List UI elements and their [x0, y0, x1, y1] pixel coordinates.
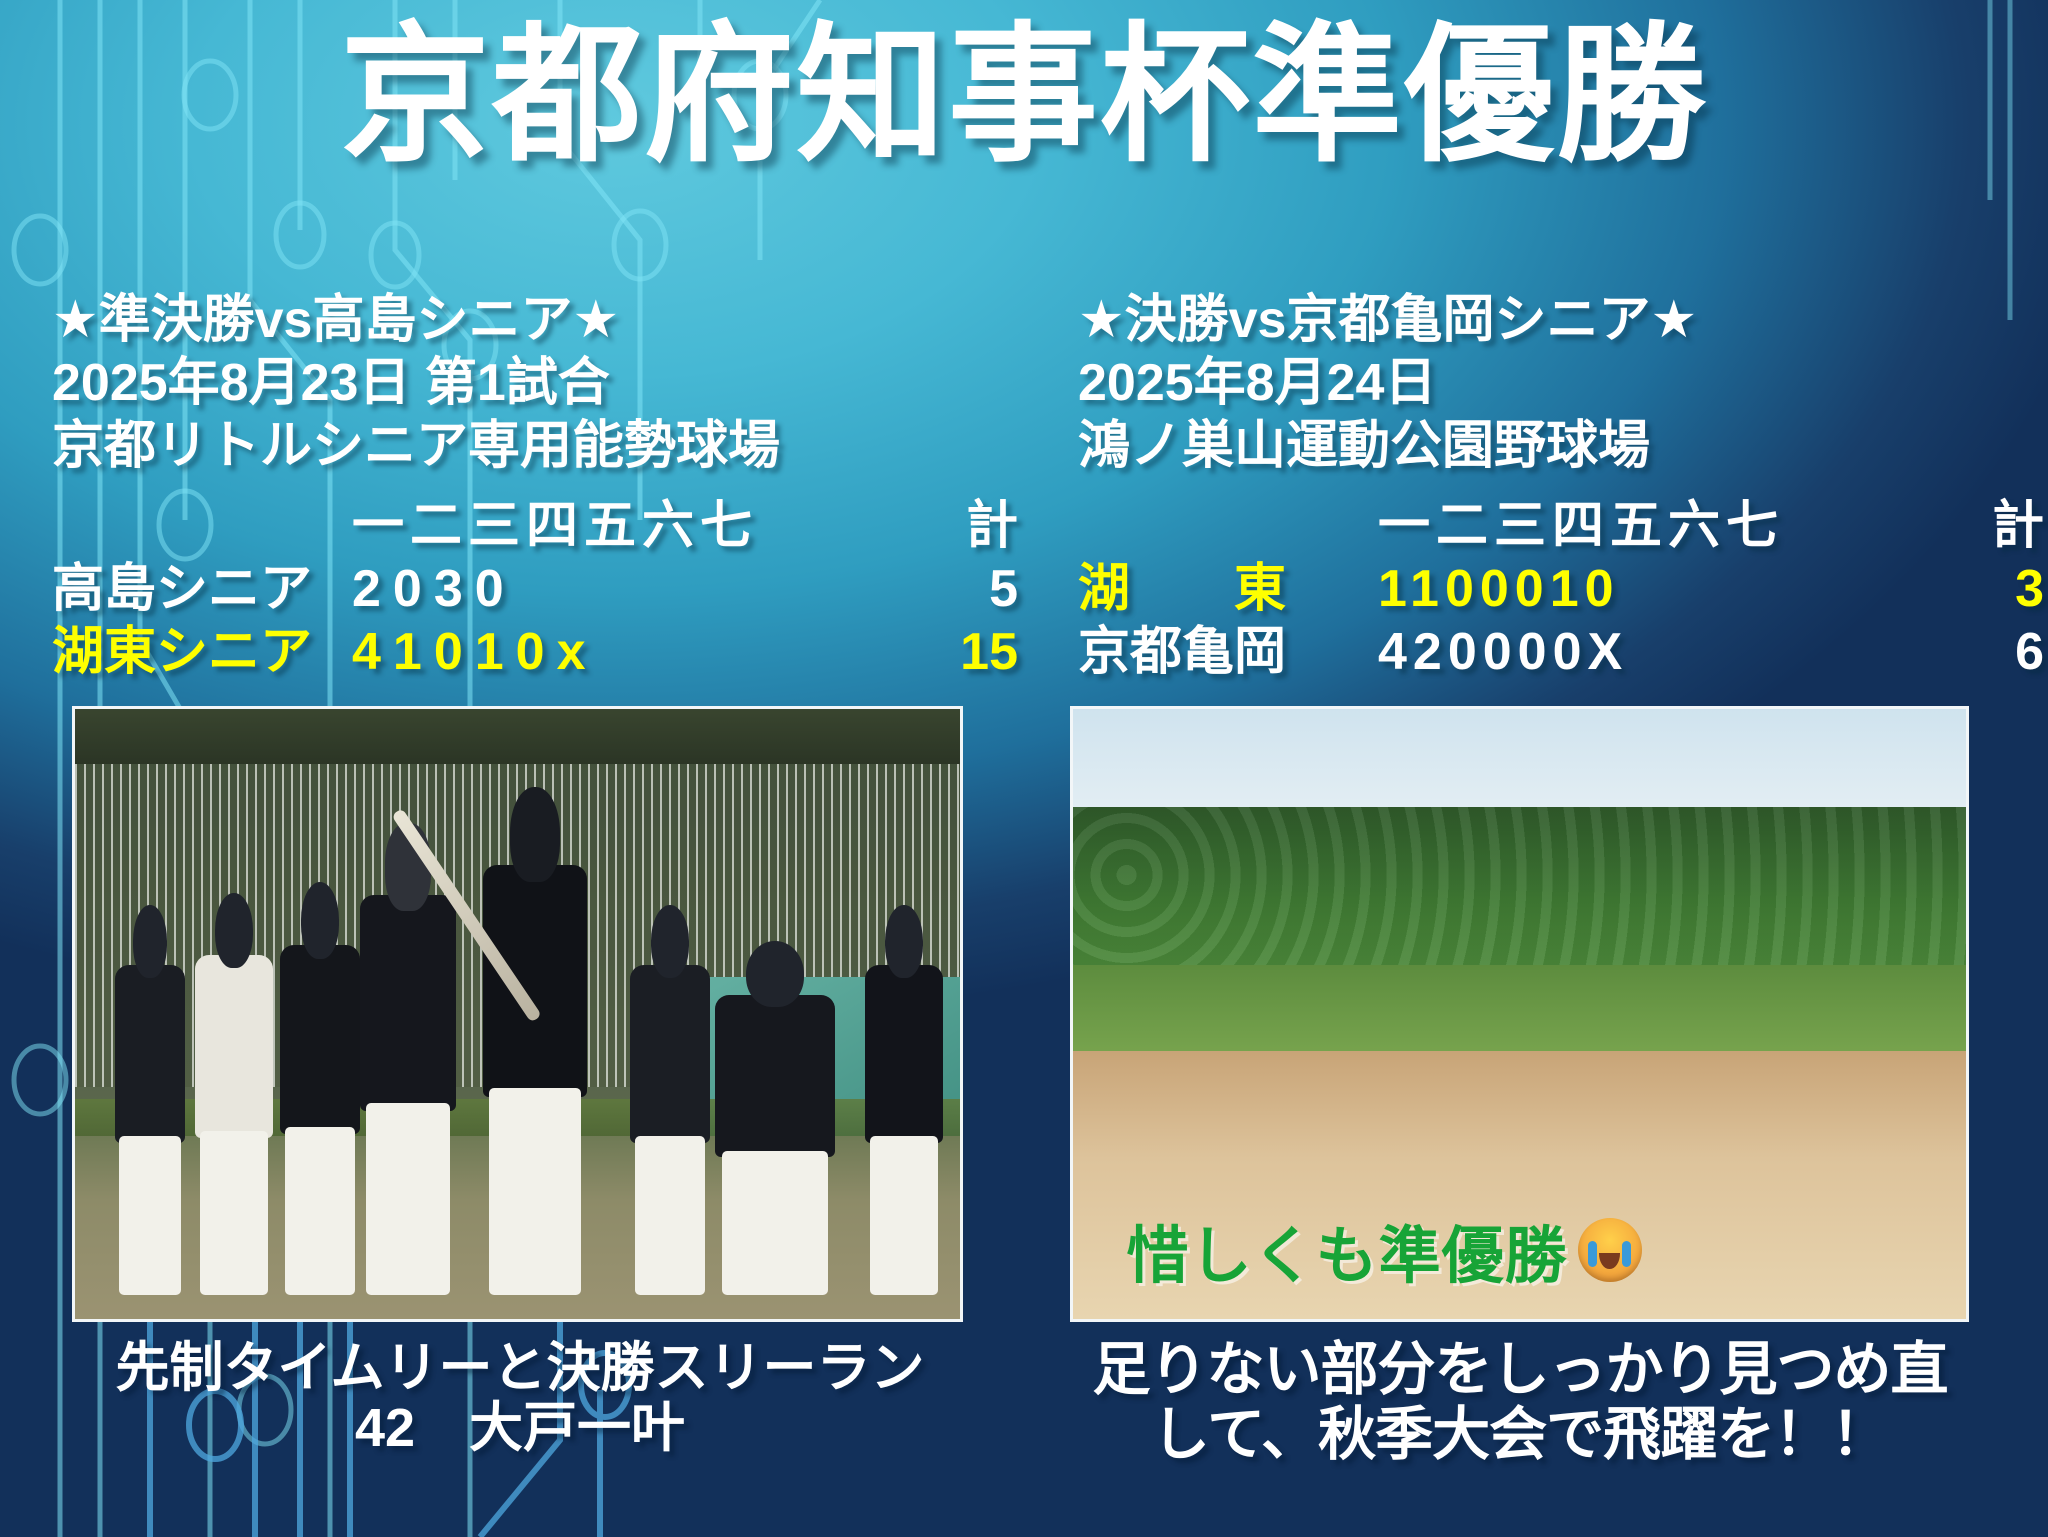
- right-row0-total: 3: [2015, 559, 2048, 619]
- left-game-heading: ★準決勝vs高島シニア★: [52, 290, 1032, 353]
- right-game-heading: ★決勝vs京都亀岡シニア★: [1078, 290, 2048, 353]
- photo-team-lineup-content: 惜しくも準優勝: [1073, 709, 1966, 1319]
- left-game-header: ★準決勝vs高島シニア★ 2025年8月23日 第1試合 京都リトルシニア専用能…: [52, 290, 1032, 479]
- photo-overlay-label: 惜しくも準優勝: [1127, 1205, 1568, 1295]
- right-game-block: ★決勝vs京都亀岡シニア★ 2025年8月24日 鴻ノ巣山運動公園野球場 一二三…: [1078, 290, 2048, 672]
- left-row0-innings: 2030: [352, 559, 516, 619]
- photo-team-lineup: 惜しくも準優勝: [1070, 706, 1969, 1322]
- right-row0-innings: 1100010: [1378, 559, 1620, 619]
- left-game-date: 2025年8月23日 第1試合: [52, 353, 1032, 416]
- left-row0-total: 5: [989, 559, 1032, 619]
- right-row1-total: 6: [2015, 622, 2048, 682]
- left-total-header: 計: [966, 483, 1032, 558]
- left-row1-team: 湖東シニア: [52, 609, 352, 684]
- left-scoreboard-header-row: 一二三四五六七 計: [52, 483, 1032, 546]
- left-game-venue: 京都リトルシニア専用能勢球場: [52, 416, 1032, 479]
- photo-batter-at-dugout: [72, 706, 963, 1322]
- left-row1-innings: 41010x: [352, 622, 598, 682]
- right-caption: 足りない部分をしっかり見つめ直 して、秋季大会で飛躍を！！: [1060, 1338, 1980, 1468]
- slide-canvas: 京都府知事杯準優勝 ★準決勝vs高島シニア★ 2025年8月23日 第1試合 京…: [0, 0, 2048, 1537]
- right-caption-line1: 足りない部分をしっかり見つめ直: [1060, 1338, 1980, 1403]
- left-scoreboard: 一二三四五六七 計 高島シニア 2030 5 湖東シニア 41010x 15: [52, 483, 1032, 672]
- left-game-block: ★準決勝vs高島シニア★ 2025年8月23日 第1試合 京都リトルシニア専用能…: [52, 290, 1032, 672]
- table-row: 湖東シニア 41010x 15: [52, 609, 1032, 672]
- loudly-crying-face-icon: [1578, 1218, 1642, 1282]
- left-caption: 先制タイムリーと決勝スリーラン 42 大戸一叶: [40, 1338, 1000, 1459]
- left-caption-line2: 42 大戸一叶: [40, 1398, 1000, 1458]
- right-total-header: 計: [1992, 483, 2048, 558]
- right-game-header: ★決勝vs京都亀岡シニア★ 2025年8月24日 鴻ノ巣山運動公園野球場: [1078, 290, 2048, 479]
- right-scoreboard: 一二三四五六七 計 湖 東 1100010 3 京都亀岡 420000X 6: [1078, 483, 2048, 672]
- photo-batter-content: [75, 709, 960, 1319]
- right-scoreboard-header-row: 一二三四五六七 計: [1078, 483, 2048, 546]
- right-game-venue: 鴻ノ巣山運動公園野球場: [1078, 416, 2048, 479]
- right-row1-team: 京都亀岡: [1078, 609, 1378, 684]
- page-title: 京都府知事杯準優勝: [0, 14, 2048, 176]
- left-caption-line1: 先制タイムリーと決勝スリーラン: [40, 1338, 1000, 1398]
- right-caption-line2: して、秋季大会で飛躍を！！: [1060, 1403, 1980, 1468]
- right-game-date: 2025年8月24日: [1078, 353, 2048, 416]
- photo-overlay-text-group: 惜しくも準優勝: [1127, 1205, 1642, 1295]
- left-row1-total: 15: [960, 622, 1032, 682]
- right-row1-innings: 420000X: [1378, 622, 1628, 682]
